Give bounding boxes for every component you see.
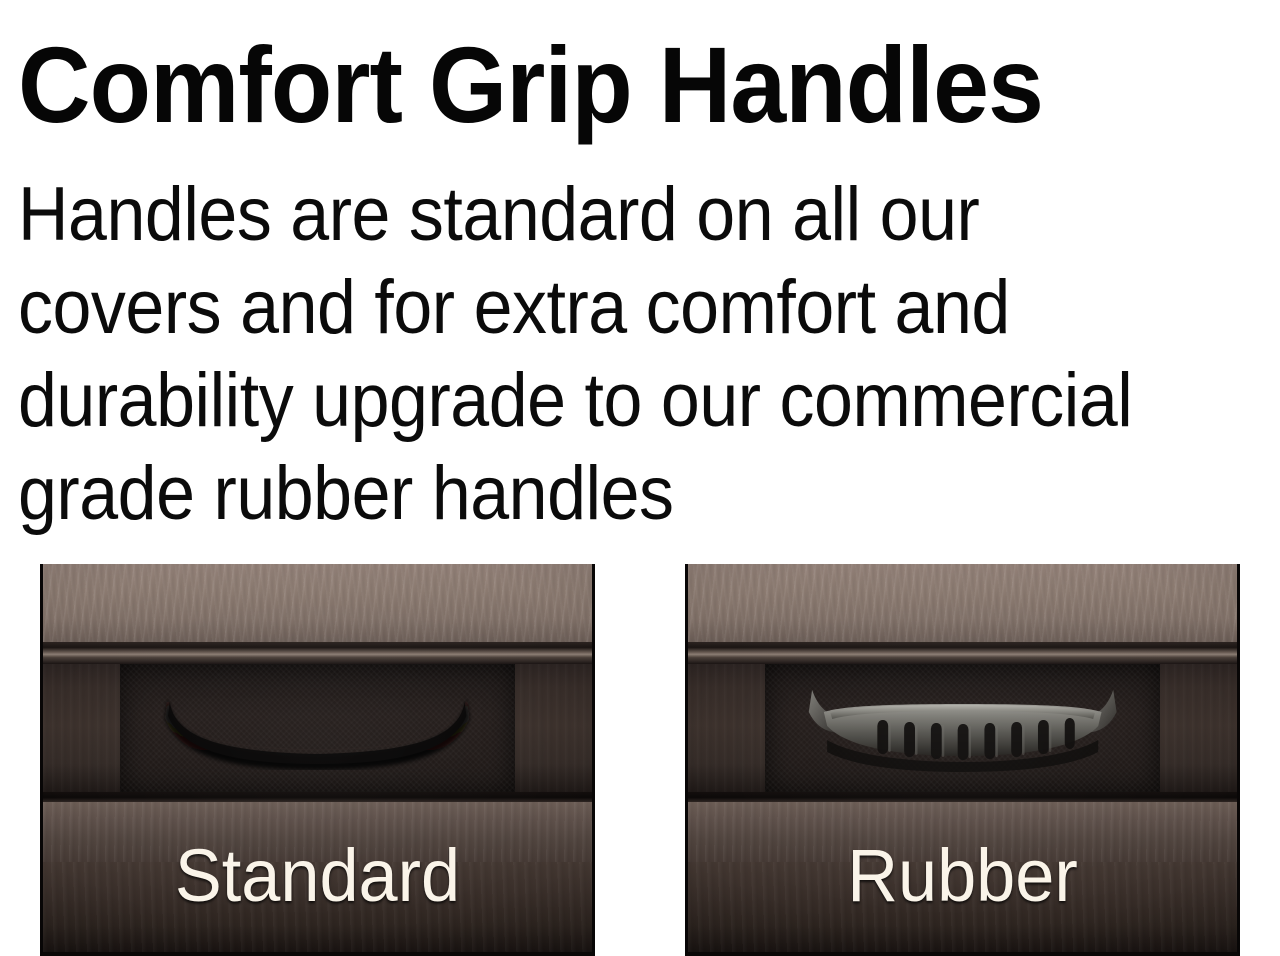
fabric-lower-seam <box>43 792 592 802</box>
promo-graphic: Comfort Grip Handles Handles are standar… <box>0 0 1280 940</box>
fabric-lower-seam <box>688 792 1237 802</box>
text-section: Comfort Grip Handles Handles are standar… <box>0 0 1280 548</box>
fabric-top-band <box>43 564 592 642</box>
fabric-top-band <box>688 564 1237 642</box>
description-paragraph: Handles are standard on all our covers a… <box>18 168 1177 540</box>
handle-comparison-strip: Standard <box>0 548 1280 940</box>
handle-backing-web <box>765 664 1160 792</box>
panel-caption-rubber: Rubber <box>702 836 1224 916</box>
page-title: Comfort Grip Handles <box>18 30 1043 140</box>
panel-rubber-handle[interactable]: Rubber <box>685 564 1240 956</box>
fabric-seam <box>688 642 1237 664</box>
panel-caption-standard: Standard <box>57 836 579 916</box>
handle-backing-web <box>120 664 515 792</box>
fabric-seam <box>43 642 592 664</box>
panel-standard-handle[interactable]: Standard <box>40 564 595 956</box>
